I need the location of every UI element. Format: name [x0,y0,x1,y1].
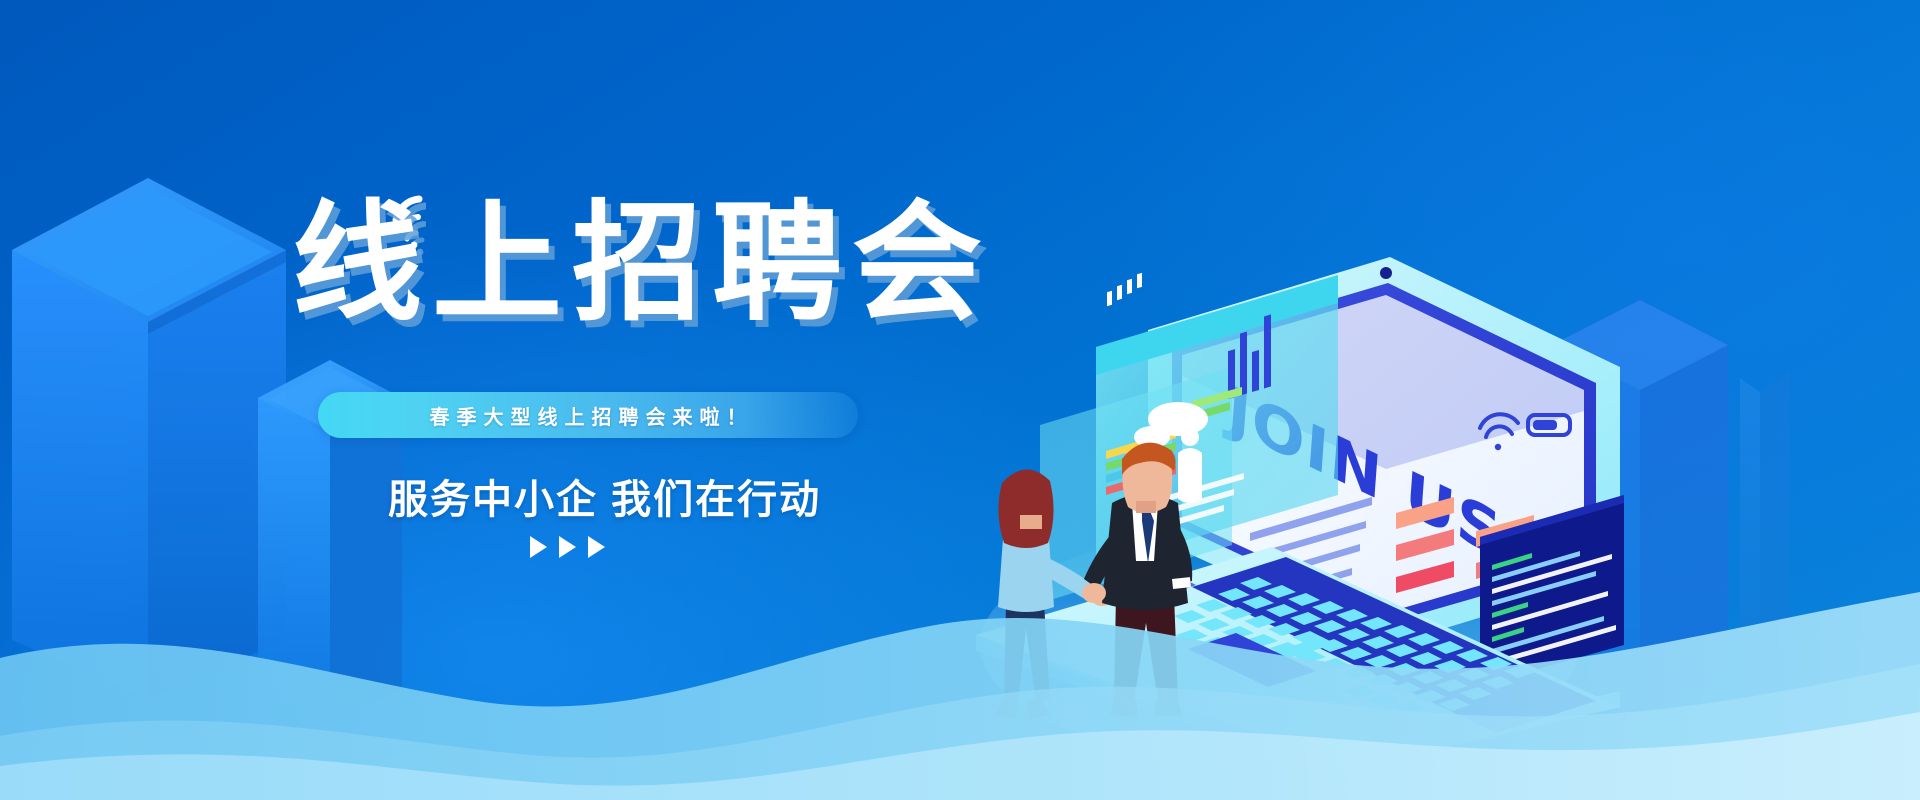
subtitle-pill-text: 春季大型线上招聘会来啦！ [423,401,754,430]
camera-dot-icon [1380,267,1392,279]
online-job-fair-banner: 线上招聘会 春季大型线上招聘会来啦！ 服务中小企 我们在行动 [0,0,1920,800]
bottom-waves [0,540,1920,800]
subtitle-pill: 春季大型线上招聘会来啦！ [318,392,858,438]
tagline: 服务中小企 我们在行动 [388,467,821,525]
headline-text: 线上招聘会 [292,187,992,339]
window-dots [1107,273,1142,306]
